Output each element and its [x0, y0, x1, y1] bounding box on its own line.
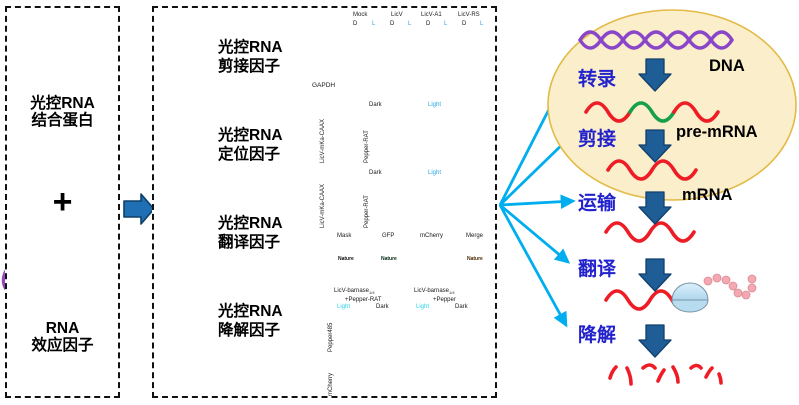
imaging1-light-label: Light	[428, 102, 441, 108]
imaging2-light-label: Light	[428, 170, 441, 176]
imaging2-t4: 60 min	[472, 182, 487, 188]
step-label-splicing: 剪接	[578, 124, 616, 151]
factor-label-splicing: 光控RNA 剪接因子	[218, 38, 283, 76]
peptide-chain-icon	[704, 274, 756, 299]
gel-group-licv: LicV	[391, 12, 403, 18]
factor-row-degradation: 光控RNA 降解因子	[160, 286, 310, 374]
gel-group-licv-rs: LicV-RS	[458, 12, 480, 18]
fluor-col-mcherry: mCherry	[420, 233, 443, 239]
arrow-translation	[639, 259, 671, 291]
fluor-col-gfp: GFP	[382, 233, 394, 239]
mrna-wave-cytoplasmic	[606, 223, 694, 241]
gel-cond-l-1: L	[372, 21, 375, 27]
imaging1-channel-label: Pepper-RAT	[364, 130, 370, 163]
imaging2-t3: 40 min	[446, 182, 461, 188]
plus-symbol: +	[5, 185, 120, 219]
imaging1-t3: 40 min	[446, 114, 461, 120]
fluor-overlay-text-gfp: Nature	[381, 256, 397, 262]
arrow-to-translation	[500, 205, 568, 262]
step-label-transcription: 转录	[578, 64, 616, 91]
imaging2-t1: 10 min	[394, 182, 409, 188]
degrad-group-1: LicV-barnase1/4	[334, 288, 375, 295]
degraded-rna-fragments	[610, 365, 721, 384]
degrad-sub-1: +Pepper-RAT	[345, 297, 381, 303]
step-label-translation: 翻译	[578, 254, 616, 281]
gel-cond-d-4: D	[462, 21, 466, 27]
gel-cond-d-2: D	[390, 21, 394, 27]
factor-label-translation: 光控RNA 翻译因子	[218, 214, 283, 252]
gel-cond-d-3: D	[426, 21, 430, 27]
degrad-cond-dark-1: Dark	[376, 304, 389, 310]
transition-arrow-icon	[124, 194, 154, 224]
light-controlled-rbp-label: 光控RNA 结合蛋白	[5, 95, 120, 129]
arrow-to-splicing	[500, 137, 570, 205]
imaging2-t0: 0 min	[368, 182, 380, 188]
arrow-degradation	[639, 325, 671, 357]
arrow-to-degradation	[500, 205, 566, 325]
imaging1-t2: 20 min	[420, 114, 435, 120]
degrad-cond-light-1: Light	[337, 304, 350, 310]
arrow-to-transport	[500, 201, 573, 205]
factor-row-localization: 光控RNA 定位因子	[160, 110, 310, 198]
imaging1-t4: 60 min	[472, 114, 487, 120]
gel-cond-d-1: D	[353, 21, 357, 27]
fluor-overlay-text-merge: Nature	[467, 256, 483, 262]
fluor-col-merge: Merge	[466, 233, 483, 239]
degrad-row-label-mcherry: mCherry	[328, 373, 334, 396]
factor-label-degradation: 光控RNA 降解因子	[218, 302, 283, 340]
cell-ellipse	[548, 10, 796, 200]
step-label-transport: 运输	[578, 188, 616, 215]
molecule-label-pre-mrna: pre-mRNA	[676, 123, 758, 142]
gel-cond-l-3: L	[444, 21, 447, 27]
ribosome-icon	[672, 283, 708, 312]
degrad-cond-dark-2: Dark	[455, 304, 468, 310]
degrad-group-2: LicV-barnase1/4	[414, 288, 455, 295]
gel-cond-l-2: L	[408, 21, 411, 27]
imaging2-t2: 20 min	[420, 182, 435, 188]
degrad-sub-2: +Pepper	[433, 297, 456, 303]
gel-cond-l-4: L	[480, 21, 483, 27]
imaging2-row-label: LicV-mKa-CAAX	[320, 184, 326, 228]
fluor-overlay-text-mask: Nature	[338, 256, 354, 262]
gel-group-mock: Mock	[353, 12, 367, 18]
imaging1-t0: 0 min	[368, 114, 380, 120]
gel-row-label-gapdh: GAPDH	[312, 82, 335, 89]
degrad-cond-light-2: Light	[416, 304, 429, 310]
imaging2-channel-label: Pepper-RAT	[364, 195, 370, 228]
factor-label-localization: 光控RNA 定位因子	[218, 126, 283, 164]
imaging2-dark-label: Dark	[369, 170, 382, 176]
imaging1-t1: 10 min	[394, 114, 409, 120]
step-label-degradation: 降解	[578, 320, 616, 347]
imaging1-dark-label: Dark	[369, 102, 382, 108]
degrad-row-label-pepper485: Pepper485	[328, 323, 334, 352]
molecule-label-mrna: mRNA	[682, 186, 732, 205]
gel-group-licv-a1: LicV-A1	[421, 12, 442, 18]
fluor-col-mask: Mask	[337, 233, 351, 239]
factor-row-translation: 光控RNA 翻译因子	[160, 198, 310, 286]
rna-effector-label: RNA 效应因子	[5, 320, 120, 354]
imaging1-row-label: LicV-mKa-CAAX	[320, 119, 326, 163]
molecule-label-dna: DNA	[709, 57, 745, 76]
factor-row-splicing: 光控RNA 剪接因子	[160, 22, 310, 110]
